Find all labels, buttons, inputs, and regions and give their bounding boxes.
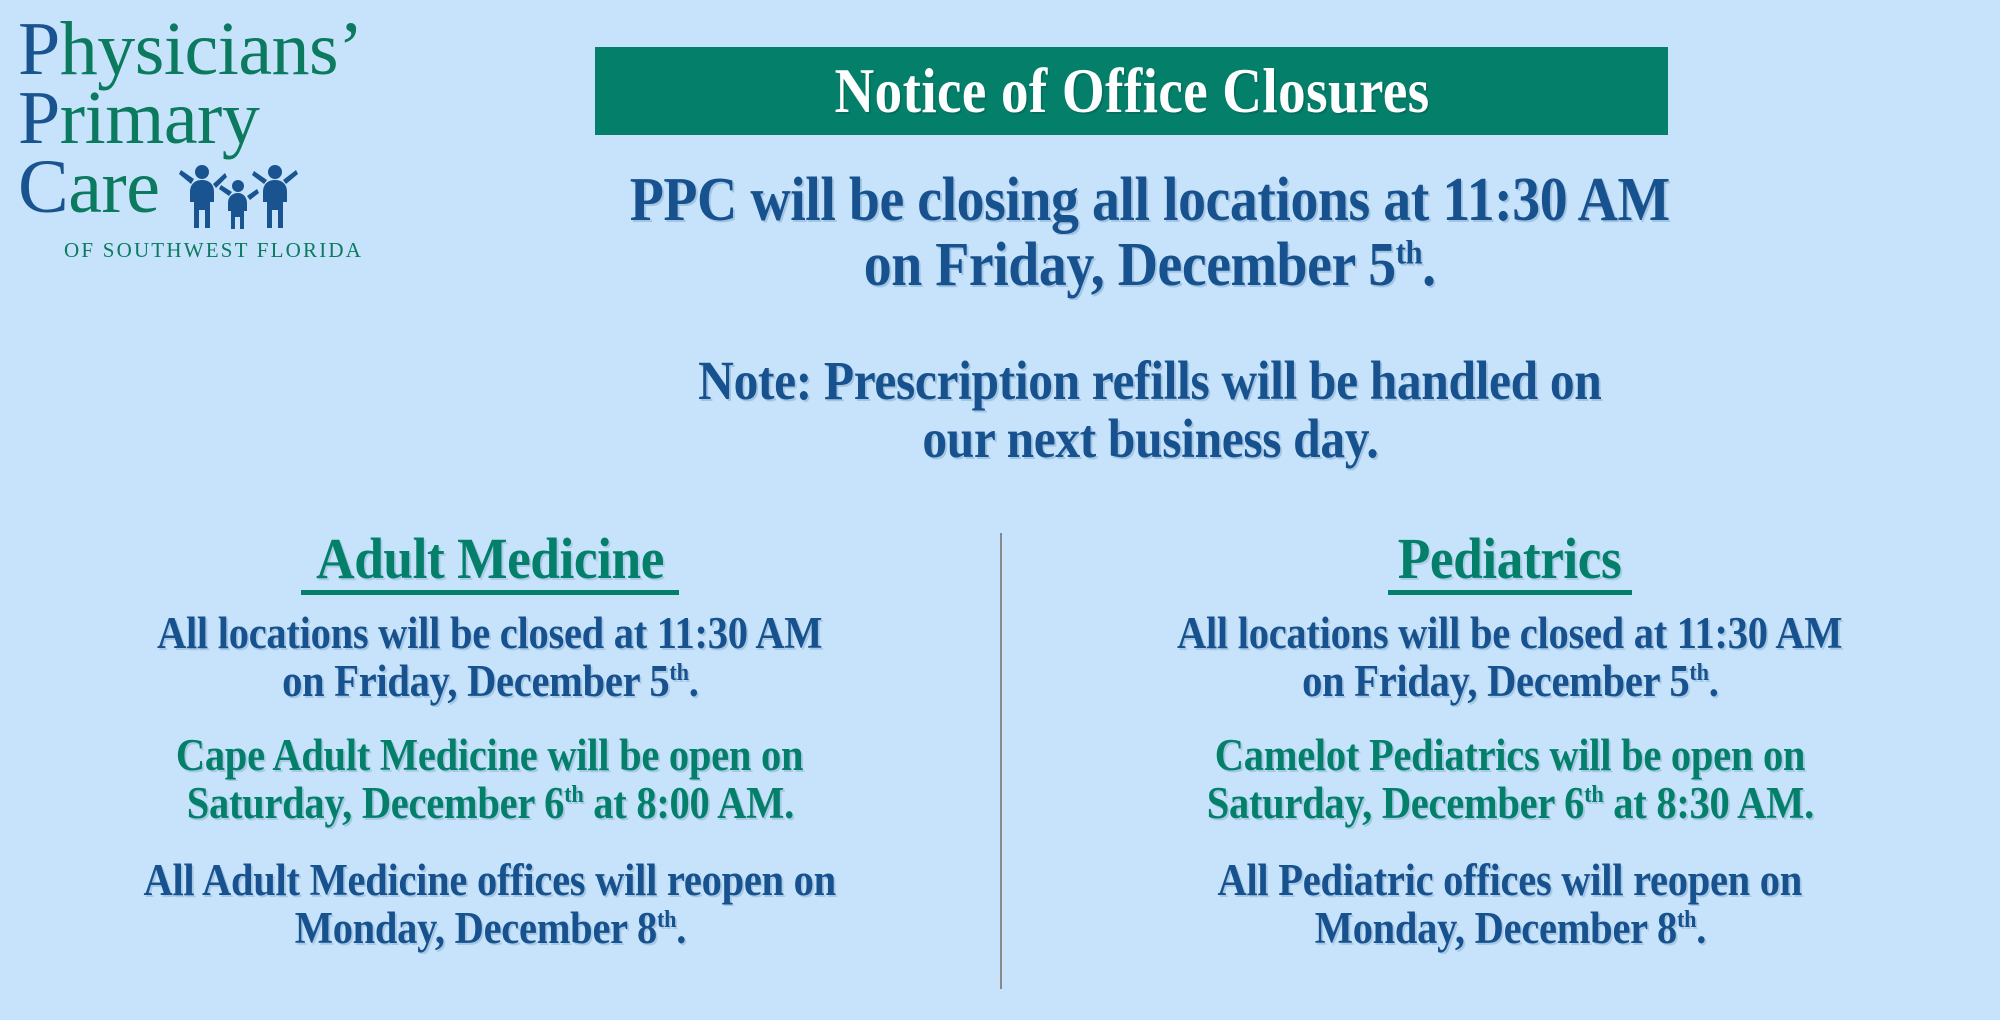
column-pediatrics: Pediatrics All locations will be closed … (1030, 530, 1990, 952)
column-title: Pediatrics (1388, 530, 1631, 595)
note-line-1: Note: Prescription refills will be handl… (300, 352, 2000, 410)
column-title: Adult Medicine (301, 530, 679, 595)
paragraph-line: Cape Adult Medicine will be open on (10, 731, 970, 779)
column-title-wrap: Adult Medicine (10, 530, 970, 595)
logo-line-primary: Primary (18, 85, 378, 152)
column-title-wrap: Pediatrics (1030, 530, 1990, 595)
column-paragraph: All Adult Medicine offices will reopen o… (10, 856, 970, 952)
three-people-icon (178, 164, 298, 232)
logo-rest-care: are (68, 145, 159, 229)
notice-canvas: Physicians’ Primary Care (0, 0, 2000, 1020)
logo-line-physicians: Physicians’ (18, 16, 378, 83)
column-paragraph: Cape Adult Medicine will be open on Satu… (10, 731, 970, 827)
headline-line-2: on Friday, December 5th. (300, 233, 2000, 298)
paragraph-line: on Friday, December 5th. (10, 657, 970, 705)
note-line-2: our next business day. (300, 410, 2000, 468)
paragraph-line: Saturday, December 6th at 8:30 AM. (1030, 779, 1990, 827)
ordinal-suffix: th (669, 659, 688, 686)
paragraph-line: on Friday, December 5th. (1030, 657, 1990, 705)
ordinal-suffix: th (1677, 906, 1696, 933)
logo-cap-c: C (18, 145, 68, 229)
paragraph-line: Monday, December 8th. (10, 904, 970, 952)
paragraph-line: All locations will be closed at 11:30 AM (10, 609, 970, 657)
note-block: Note: Prescription refills will be handl… (300, 352, 2000, 469)
column-paragraph: All locations will be closed at 11:30 AM… (10, 609, 970, 705)
column-paragraph: All Pediatric offices will reopen on Mon… (1030, 856, 1990, 952)
paragraph-line: All Pediatric offices will reopen on (1030, 856, 1990, 904)
headline-line-2-pre: on Friday, December 5 (864, 231, 1396, 299)
headline-block: PPC will be closing all locations at 11:… (300, 168, 2000, 298)
notice-banner: Notice of Office Closures (595, 47, 1668, 135)
headline-line-1: PPC will be closing all locations at 11:… (300, 168, 2000, 233)
paragraph-line: Camelot Pediatrics will be open on (1030, 731, 1990, 779)
paragraph-line: All Adult Medicine offices will reopen o… (10, 856, 970, 904)
column-divider (1000, 533, 1002, 989)
ordinal-suffix: th (564, 781, 583, 808)
ordinal-suffix: th (657, 906, 676, 933)
column-paragraph: Camelot Pediatrics will be open on Satur… (1030, 731, 1990, 827)
headline-line-2-post: . (1422, 231, 1436, 299)
ordinal-suffix: th (1584, 781, 1603, 808)
ordinal-suffix: th (1689, 659, 1708, 686)
paragraph-line: Saturday, December 6th at 8:00 AM. (10, 779, 970, 827)
column-paragraph: All locations will be closed at 11:30 AM… (1030, 609, 1990, 705)
paragraph-line: Monday, December 8th. (1030, 904, 1990, 952)
headline-line-2-sup: th (1396, 234, 1422, 271)
banner-title: Notice of Office Closures (834, 54, 1429, 128)
paragraph-line: All locations will be closed at 11:30 AM (1030, 609, 1990, 657)
column-adult-medicine: Adult Medicine All locations will be clo… (10, 530, 970, 952)
